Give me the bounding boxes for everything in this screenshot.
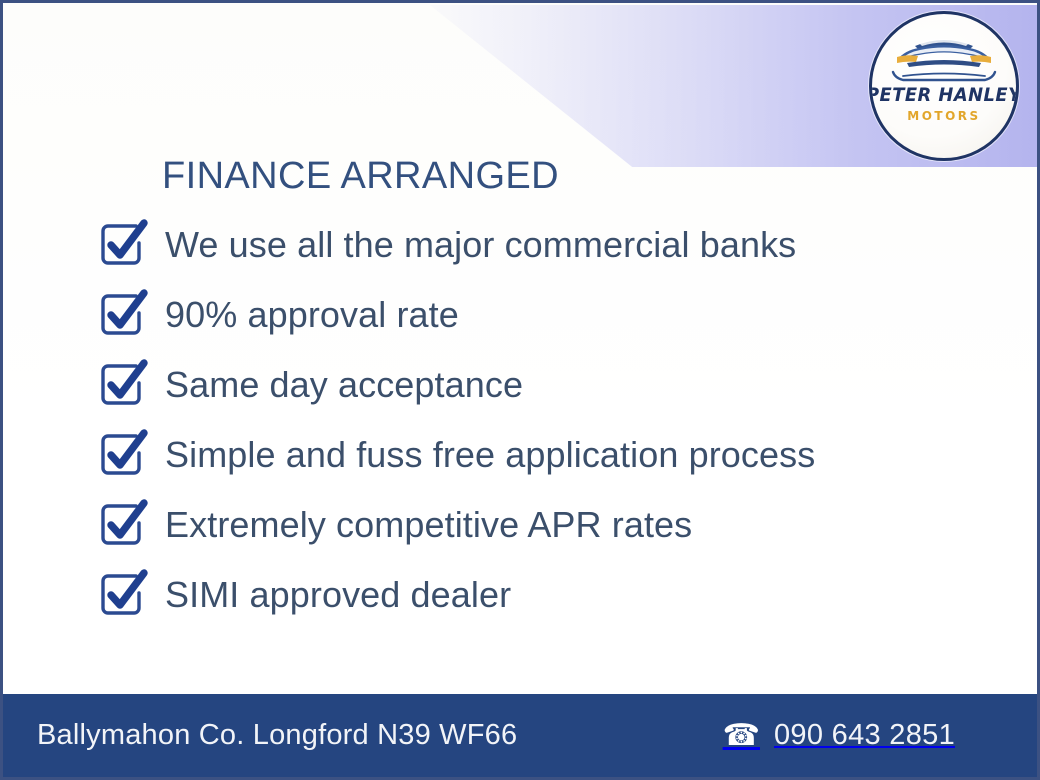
list-item-label: Simple and fuss free application process <box>165 437 815 473</box>
checkbox-checked-icon <box>95 217 151 273</box>
checkbox-checked-icon <box>95 497 151 553</box>
list-item: We use all the major commercial banks <box>95 210 995 280</box>
list-item: Same day acceptance <box>95 350 995 420</box>
telephone-icon: ☎ <box>723 721 760 751</box>
phone-number: 090 643 2851 <box>774 719 955 752</box>
list-item: Extremely competitive APR rates <box>95 490 995 560</box>
checkbox-checked-icon <box>95 287 151 343</box>
list-item-label: We use all the major commercial banks <box>165 227 796 263</box>
list-item-label: Same day acceptance <box>165 367 523 403</box>
finance-poster: PETER HANLEY MOTORS FINANCE ARRANGED We … <box>0 0 1040 780</box>
dealer-logo: PETER HANLEY MOTORS <box>869 11 1019 161</box>
logo-subtitle: MOTORS <box>907 110 980 122</box>
logo-name: PETER HANLEY <box>869 86 1019 105</box>
phone-link[interactable]: ☎ 090 643 2851 <box>723 719 1001 752</box>
list-item-label: SIMI approved dealer <box>165 577 511 613</box>
contact-footer-bar: Ballymahon Co. Longford N39 WF66 ☎ 090 6… <box>3 694 1037 777</box>
page-title: FINANCE ARRANGED <box>162 155 559 198</box>
list-item: 90% approval rate <box>95 280 995 350</box>
list-item-label: Extremely competitive APR rates <box>165 507 692 543</box>
list-item: SIMI approved dealer <box>95 560 995 630</box>
list-item-label: 90% approval rate <box>165 297 459 333</box>
checkbox-checked-icon <box>95 427 151 483</box>
checkbox-checked-icon <box>95 357 151 413</box>
car-front-icon <box>885 30 1003 84</box>
finance-benefits-list: We use all the major commercial banks 90… <box>95 210 995 630</box>
checkbox-checked-icon <box>95 567 151 623</box>
list-item: Simple and fuss free application process <box>95 420 995 490</box>
dealer-address: Ballymahon Co. Longford N39 WF66 <box>37 719 517 752</box>
